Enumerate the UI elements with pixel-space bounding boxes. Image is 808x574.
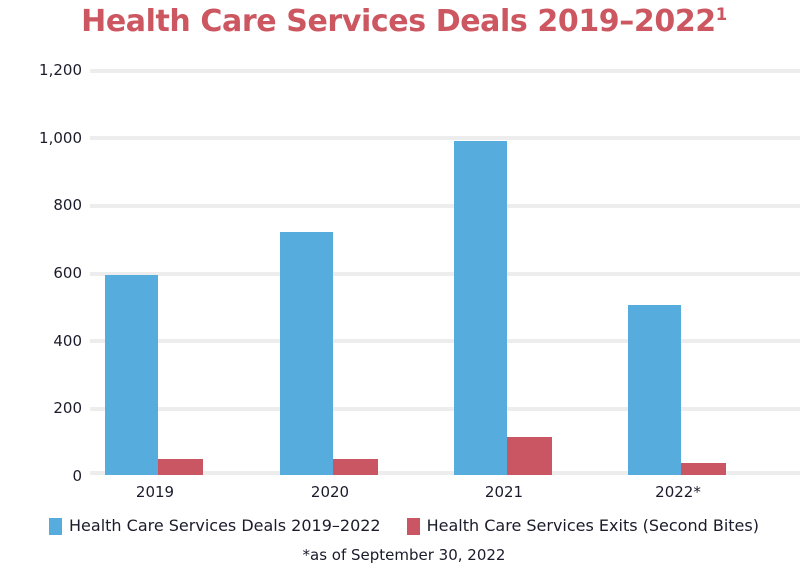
chart-title: Health Care Services Deals 2019–20221 [0, 2, 808, 42]
legend-swatch-icon-deals [49, 518, 62, 535]
legend-item-exits[interactable]: Health Care Services Exits (Second Bites… [407, 517, 759, 535]
y-axis-label-800: 800 [2, 198, 82, 212]
chart-footnote: *as of September 30, 2022 [0, 546, 808, 564]
bar-deals-2021[interactable] [454, 141, 507, 475]
gridline-400 [90, 339, 800, 343]
bar-exits-2020[interactable] [333, 459, 378, 475]
x-axis-label-2022: 2022* [603, 483, 753, 501]
bar-exits-2022[interactable] [681, 463, 726, 475]
y-axis-label-200: 200 [2, 401, 82, 415]
x-axis-label-2021: 2021 [429, 483, 579, 501]
gridline-600 [90, 272, 800, 276]
chart-title-superscript: 1 [716, 5, 727, 24]
x-axis-label-2019: 2019 [80, 483, 230, 501]
y-axis-label-1200: 1,200 [2, 63, 82, 77]
y-axis-label-0: 0 [2, 469, 82, 483]
gridline-1000 [90, 136, 800, 140]
gridline-800 [90, 204, 800, 208]
bar-deals-2022[interactable] [628, 305, 681, 476]
chart-legend: Health Care Services Deals 2019–2022 Hea… [0, 517, 808, 535]
legend-swatch-icon-exits [407, 518, 420, 535]
legend-label-exits: Health Care Services Exits (Second Bites… [427, 517, 759, 535]
gridline-1200 [90, 69, 800, 73]
legend-label-deals: Health Care Services Deals 2019–2022 [69, 517, 381, 535]
bar-exits-2021[interactable] [507, 437, 552, 475]
y-axis-label-400: 400 [2, 334, 82, 348]
bar-exits-2019[interactable] [158, 459, 203, 475]
bar-deals-2019[interactable] [105, 275, 158, 475]
legend-item-deals[interactable]: Health Care Services Deals 2019–2022 [49, 517, 381, 535]
bar-deals-2020[interactable] [280, 232, 333, 475]
gridline-200 [90, 407, 800, 411]
chart-title-text: Health Care Services Deals 2019–2022 [81, 4, 716, 39]
chart-container: Health Care Services Deals 2019–20221 1,… [0, 0, 808, 574]
y-axis-label-1000: 1,000 [2, 131, 82, 145]
x-axis-label-2020: 2020 [255, 483, 405, 501]
y-axis-label-600: 600 [2, 266, 82, 280]
plot-area [90, 69, 800, 475]
